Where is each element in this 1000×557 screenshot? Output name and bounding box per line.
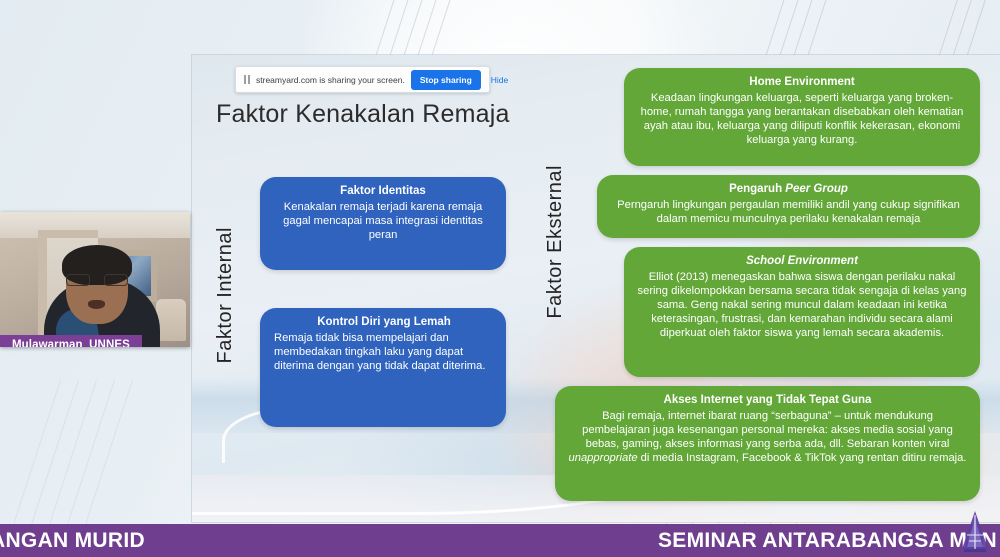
card-home-environment: Home Environment Keadaan lingkungan kelu… — [624, 68, 980, 166]
card-title: Faktor Identitas — [272, 184, 494, 199]
card-faktor-identitas: Faktor Identitas Kenakalan remaja terjad… — [260, 177, 506, 270]
card-pengaruh-peer-group: Pengaruh Peer Group Perngaruh lingkungan… — [597, 175, 980, 238]
card-title-plain: Pengaruh — [729, 183, 785, 195]
card-body: Keadaan lingkungan keluarga, seperti kel… — [636, 91, 968, 148]
card-title-italic: School Environment — [746, 255, 858, 267]
hide-share-bar-button[interactable]: Hide — [487, 72, 512, 88]
webcam-background-lamp — [156, 299, 186, 341]
banner-right-text: SEMINAR ANTARABANGSA MEN — [658, 529, 997, 553]
card-title: Pengaruh Peer Group — [609, 182, 968, 197]
slide-title: Faktor Kenakalan Remaja — [216, 100, 510, 129]
webcam-tile-speaker[interactable]: Mulawarman_UNNES — [0, 212, 190, 347]
card-body-italic: unappropriate — [569, 452, 638, 464]
stop-sharing-button[interactable]: Stop sharing — [411, 70, 481, 90]
lower-third-banner: ANGAN MURID SEMINAR ANTARABANGSA MEN — [0, 524, 1000, 557]
card-title-italic: Peer Group — [785, 183, 848, 195]
webcam-person-mouth — [88, 300, 105, 309]
screen-share-notification-bar[interactable]: streamyard.com is sharing your screen. S… — [235, 66, 490, 93]
card-title: School Environment — [636, 254, 968, 269]
card-body-post: di media Instagram, Facebook & TikTok ya… — [638, 452, 967, 464]
card-akses-internet: Akses Internet yang Tidak Tepat Guna Bag… — [555, 386, 980, 501]
card-body: Perngaruh lingkungan pergaulan memiliki … — [609, 198, 968, 226]
label-faktor-eksternal: Faktor Eksternal — [544, 165, 567, 319]
webcam-person-glasses — [66, 274, 128, 286]
share-status-text: streamyard.com is sharing your screen. — [256, 75, 405, 85]
card-title: Kontrol Diri yang Lemah — [274, 315, 494, 330]
shared-screen-slide: streamyard.com is sharing your screen. S… — [192, 55, 1000, 522]
label-faktor-internal: Faktor Internal — [214, 227, 237, 363]
broadcast-stage: streamyard.com is sharing your screen. S… — [0, 0, 1000, 557]
pause-icon — [244, 75, 250, 84]
card-body-pre: Bagi remaja, internet ibarat ruang “serb… — [582, 410, 953, 450]
card-body: Remaja tidak bisa mempelajari dan membed… — [274, 331, 494, 374]
card-body: Bagi remaja, internet ibarat ruang “serb… — [567, 409, 968, 466]
card-school-environment: School Environment Elliot (2013) menegas… — [624, 247, 980, 377]
card-title: Akses Internet yang Tidak Tepat Guna — [567, 393, 968, 408]
participant-name-tag: Mulawarman_UNNES — [0, 335, 142, 347]
card-body: Elliot (2013) menegaskan bahwa siswa den… — [636, 270, 968, 341]
card-title: Home Environment — [636, 75, 968, 90]
card-body: Kenakalan remaja terjadi karena remaja g… — [272, 200, 494, 243]
banner-left-text: ANGAN MURID — [0, 529, 145, 553]
card-kontrol-diri: Kontrol Diri yang Lemah Remaja tidak bis… — [260, 308, 506, 427]
